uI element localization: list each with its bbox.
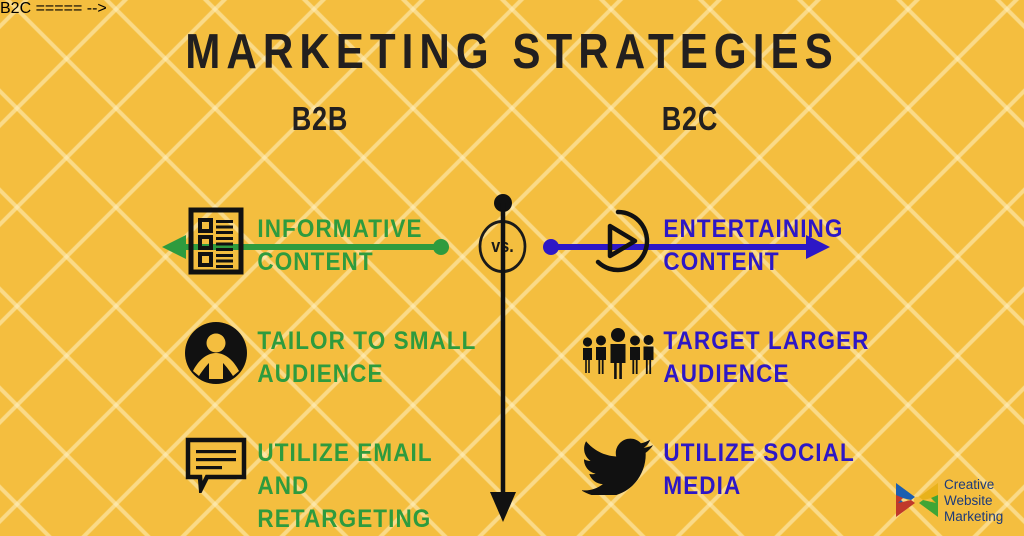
list-item: INFORMATIVE CONTENT xyxy=(180,205,510,317)
twitter-bird-icon xyxy=(578,429,658,501)
column-b2b: INFORMATIVE CONTENT TAILOR TO SMALL AUDI… xyxy=(180,205,510,536)
single-person-circle-icon xyxy=(180,317,252,389)
axis-label-b2b: B2B xyxy=(254,100,385,138)
list-item-label: TAILOR TO SMALL AUDIENCE xyxy=(252,317,477,391)
document-list-icon xyxy=(180,205,252,277)
speech-bubble-icon xyxy=(180,429,252,501)
people-group-icon xyxy=(578,317,658,389)
infographic-canvas: MARKETING STRATEGIES B2C ===== --> B2B B… xyxy=(0,0,1024,536)
list-item-label: UTILIZE SOCIAL MEDIA xyxy=(658,429,855,503)
list-item: UTILIZE SOCIAL MEDIA xyxy=(578,429,908,536)
list-item: UTILIZE EMAIL AND RETARGETING xyxy=(180,429,510,536)
axis-label-b2c: B2C xyxy=(624,100,755,138)
column-b2c: ENTERTAINING CONTENT xyxy=(578,205,908,536)
list-item: TAILOR TO SMALL AUDIENCE xyxy=(180,317,510,429)
list-item: TARGET LARGER AUDIENCE xyxy=(578,317,908,429)
brand-logo-text: Creative Website Marketing xyxy=(941,477,1003,525)
play-button-icon xyxy=(578,205,658,277)
brand-logo[interactable]: Creative Website Marketing xyxy=(893,470,1017,532)
list-item-label: TARGET LARGER AUDIENCE xyxy=(658,317,870,391)
list-item-label: ENTERTAINING CONTENT xyxy=(658,205,843,279)
list-item-label: UTILIZE EMAIL AND RETARGETING xyxy=(252,429,484,536)
page-title: MARKETING STRATEGIES xyxy=(72,24,953,80)
four-arrows-butterfly-icon xyxy=(893,475,941,528)
list-item: ENTERTAINING CONTENT xyxy=(578,205,908,317)
comparison-axis: B2B B2C vs. xyxy=(0,100,1024,190)
list-item-label: INFORMATIVE CONTENT xyxy=(252,205,423,279)
